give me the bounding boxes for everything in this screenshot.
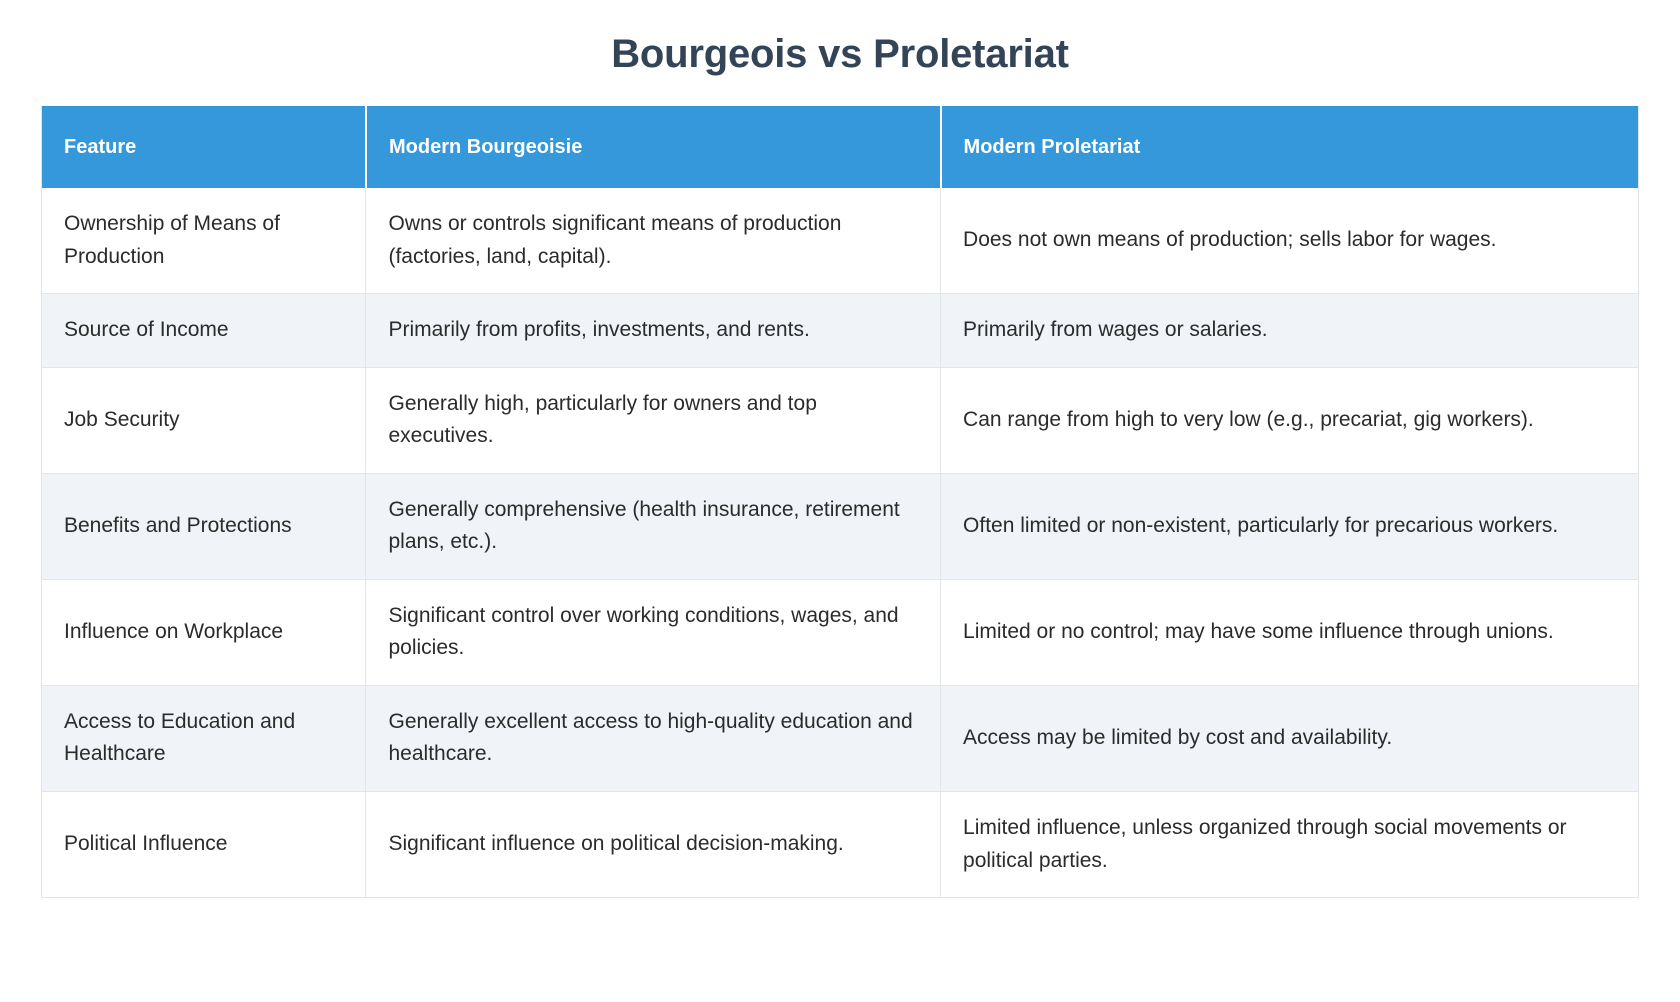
cell-feature: Influence on Workplace — [42, 579, 366, 685]
column-header-proletariat: Modern Proletariat — [941, 106, 1638, 188]
table-row: Source of IncomePrimarily from profits, … — [42, 294, 1638, 368]
column-header-bourgeoisie: Modern Bourgeoisie — [366, 106, 941, 188]
page-root: Bourgeois vs Proletariat Feature Modern … — [0, 0, 1680, 1002]
cell-bourgeoisie: Generally high, particularly for owners … — [366, 367, 941, 473]
cell-proletariat: Primarily from wages or salaries. — [941, 294, 1638, 368]
table-body: Ownership of Means of ProductionOwns or … — [42, 188, 1638, 897]
cell-feature: Political Influence — [42, 792, 366, 898]
cell-proletariat: Does not own means of production; sells … — [941, 188, 1638, 294]
cell-feature: Ownership of Means of Production — [42, 188, 366, 294]
page-title: Bourgeois vs Proletariat — [0, 0, 1680, 106]
cell-feature: Source of Income — [42, 294, 366, 368]
table-row: Ownership of Means of ProductionOwns or … — [42, 188, 1638, 294]
cell-proletariat: Limited or no control; may have some inf… — [941, 579, 1638, 685]
comparison-table: Feature Modern Bourgeoisie Modern Prolet… — [42, 106, 1638, 897]
comparison-table-container: Feature Modern Bourgeoisie Modern Prolet… — [41, 106, 1639, 898]
table-header: Feature Modern Bourgeoisie Modern Prolet… — [42, 106, 1638, 188]
cell-proletariat: Can range from high to very low (e.g., p… — [941, 367, 1638, 473]
cell-bourgeoisie: Significant influence on political decis… — [366, 792, 941, 898]
cell-feature: Access to Education and Healthcare — [42, 685, 366, 791]
cell-bourgeoisie: Primarily from profits, investments, and… — [366, 294, 941, 368]
table-row: Benefits and ProtectionsGenerally compre… — [42, 473, 1638, 579]
cell-feature: Job Security — [42, 367, 366, 473]
cell-bourgeoisie: Owns or controls significant means of pr… — [366, 188, 941, 294]
table-row: Access to Education and HealthcareGenera… — [42, 685, 1638, 791]
cell-proletariat: Access may be limited by cost and availa… — [941, 685, 1638, 791]
cell-bourgeoisie: Generally excellent access to high-quali… — [366, 685, 941, 791]
cell-feature: Benefits and Protections — [42, 473, 366, 579]
column-header-feature: Feature — [42, 106, 366, 188]
table-row: Political InfluenceSignificant influence… — [42, 792, 1638, 898]
cell-bourgeoisie: Significant control over working conditi… — [366, 579, 941, 685]
cell-bourgeoisie: Generally comprehensive (health insuranc… — [366, 473, 941, 579]
cell-proletariat: Limited influence, unless organized thro… — [941, 792, 1638, 898]
cell-proletariat: Often limited or non-existent, particula… — [941, 473, 1638, 579]
table-row: Job SecurityGenerally high, particularly… — [42, 367, 1638, 473]
table-header-row: Feature Modern Bourgeoisie Modern Prolet… — [42, 106, 1638, 188]
table-row: Influence on WorkplaceSignificant contro… — [42, 579, 1638, 685]
